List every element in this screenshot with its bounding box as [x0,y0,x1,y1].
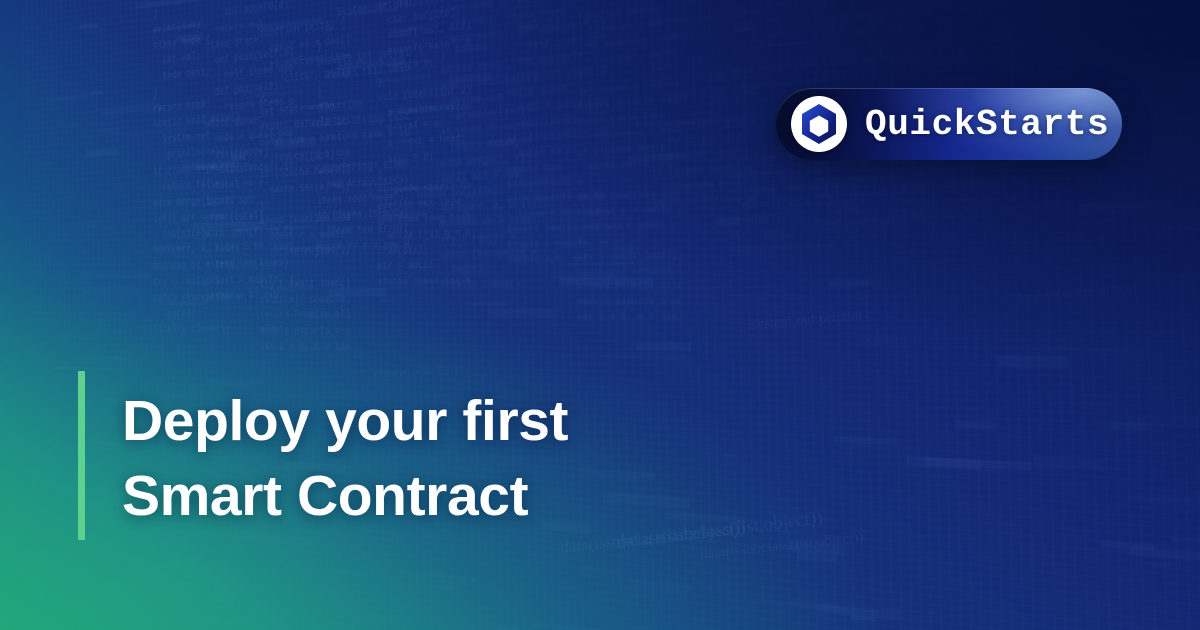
social-card: if (n < 0) { return 0; } for (i=0;i<n;i+… [0,0,1200,630]
title-line-1: Deploy your first [122,384,762,459]
chainlink-hexagon-icon [791,96,847,152]
quickstarts-label: QuickStarts [865,104,1109,145]
title-line-2: Smart Contract [122,459,762,534]
quickstarts-badge[interactable]: QuickStarts [776,88,1122,160]
page-title: Deploy your first Smart Contract [122,384,762,533]
accent-bar [78,371,85,540]
